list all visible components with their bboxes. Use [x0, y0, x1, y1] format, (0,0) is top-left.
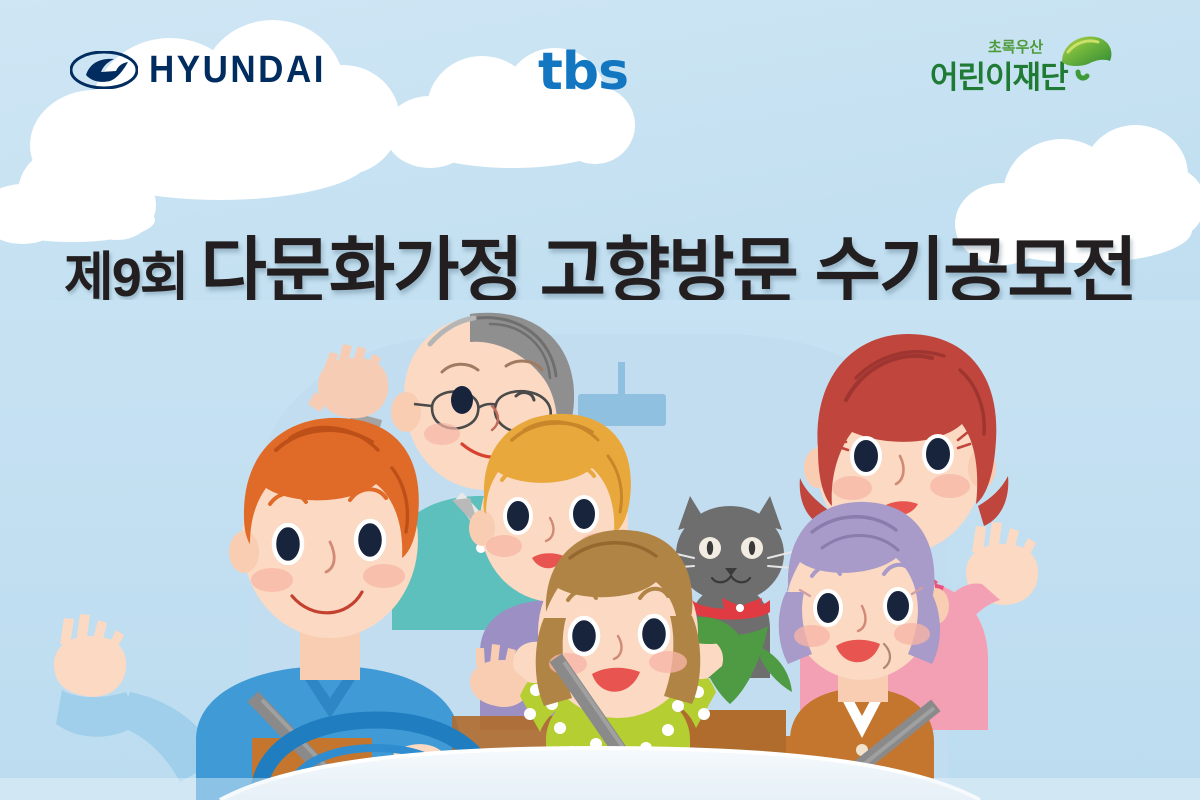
childfund-logo[interactable]: 초록우산 어린이재단: [930, 32, 1110, 100]
poster-canvas: HYUNDAI tbs 초록우산 어린이재단 제9회 다문화가정: [0, 0, 1200, 800]
hyundai-slanted-h-icon: [70, 51, 138, 89]
title-space: [188, 248, 201, 308]
green-umbrella-icon: [1058, 34, 1114, 84]
hyundai-wordmark: HYUNDAI: [149, 48, 326, 91]
childfund-wordmark: 어린이재단: [930, 52, 1068, 97]
tbs-logo[interactable]: tbs: [538, 46, 628, 98]
hyundai-logo[interactable]: HYUNDAI: [70, 50, 326, 90]
sponsor-logo-row: HYUNDAI tbs 초록우산 어린이재단: [0, 0, 1200, 130]
multicultural-family-in-car-illustration: [0, 300, 1200, 800]
title-prefix: 제9회: [64, 248, 187, 308]
